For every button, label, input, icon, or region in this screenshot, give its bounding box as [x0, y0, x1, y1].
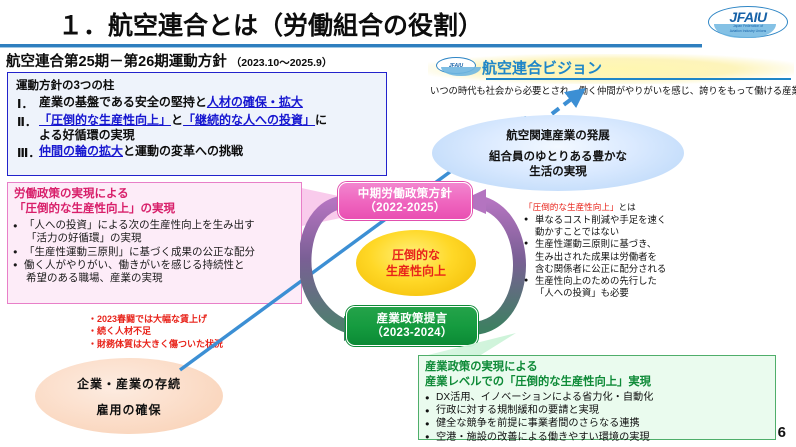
- industry-policy-heading-line2: 産業レベルでの「圧倒的な生産性向上」実現: [425, 375, 775, 390]
- list-item: DX活用、イノベーションによる省力化・自動化: [423, 391, 775, 404]
- left-red-notes: ・2023春闘では大幅な賃上げ ・続く人材不足 ・財務体質は大きく傷ついた状況: [88, 313, 223, 350]
- page-title: １．航空連合とは（労働組合の役割）: [58, 6, 483, 42]
- labor-policy-bullet-3: 働く人がやりがい、働きがいを感じる持続性と: [24, 259, 245, 271]
- orange-ellipse-line2: 雇用の確保: [96, 401, 161, 418]
- subtitle-main: 航空連合第25期－第26期運動方針: [6, 50, 227, 71]
- pillar-2-mid: と: [171, 113, 183, 127]
- title-divider-secondary: [0, 47, 702, 48]
- pillars-heading: 運動方針の3つの柱: [16, 77, 386, 93]
- definition-bullet-1: 単なるコスト削減や手足を速く: [535, 214, 666, 225]
- cycle-bottom-box[interactable]: 産業政策提言 （2023-2024）: [346, 306, 478, 346]
- definition-heading-key: 「圧倒的な生産性向上」: [524, 202, 619, 212]
- list-item: 単なるコスト削減や手足を速く 動かすことではない: [524, 214, 720, 238]
- definition-heading-rest: とは: [619, 202, 636, 212]
- industry-policy-heading-line1: 産業政策の実現による: [425, 360, 775, 375]
- industry-policy-bullet-list: DX活用、イノベーションによる省力化・自動化 行政に対する規制緩和の要請と実現 …: [423, 391, 775, 444]
- pillar-3-post: と運動の変革への挑戦: [123, 144, 243, 158]
- vision-logo-icon: JFAIU: [436, 57, 482, 77]
- pillar-item-2: Ⅱ． 「圧倒的な生産性向上」と「継続的な人への投資」に よる好循環の実現: [17, 113, 386, 143]
- blue-ellipse-line2: 組合員のゆとりある豊かな 生活の実現: [489, 150, 627, 180]
- blue-ellipse-line2b: 生活の実現: [529, 166, 587, 178]
- list-item: 働く人がやりがい、働きがいを感じる持続性と 希望のある職場、産業の実現: [12, 259, 301, 286]
- jfaiu-logo: JFAIU Japan Federation of Aviation Indus…: [704, 2, 792, 42]
- cycle-bottom-line2: （2023-2024）: [371, 326, 452, 340]
- list-item: 行政に対する規制緩和の要請と実現: [423, 404, 775, 417]
- productivity-cycle-diagram: 中期労働政策方針 （2022-2025） 圧倒的な 生産性向上 産業政策提言 （…: [300, 182, 550, 348]
- vision-title: 航空連合ビジョン: [482, 57, 602, 78]
- pillar-1-link[interactable]: 人材の確保・拡大: [207, 95, 303, 109]
- pillar-1-number: Ⅰ．: [17, 95, 39, 112]
- cycle-top-box[interactable]: 中期労働政策方針 （2022-2025）: [338, 182, 472, 220]
- labor-policy-bullet-1: 「人への投資」による次の生産性向上を生み出す: [24, 219, 255, 231]
- red-note-1: ・2023春闘では大幅な賃上げ: [88, 313, 223, 325]
- list-item: 健全な競争を前提に事業者間のさらなる連携: [423, 417, 775, 430]
- logo-subtext-2: Aviation Industry Unions: [730, 29, 767, 33]
- blue-ellipse-line2a: 組合員のゆとりある豊かな: [489, 151, 627, 163]
- red-note-2: ・続く人材不足: [88, 325, 223, 337]
- pillar-2-number: Ⅱ．: [17, 113, 39, 143]
- pillar-2-link-a[interactable]: 「圧倒的な生産性向上」: [39, 113, 171, 127]
- list-item: 「生産性運動三原則」に基づく成果の公正な配分: [12, 246, 301, 259]
- cycle-center-ellipse: 圧倒的な 生産性向上: [356, 230, 476, 296]
- pillar-2-post: に: [315, 113, 327, 127]
- pillar-2-link-b[interactable]: 「継続的な人への投資」: [183, 113, 315, 127]
- definition-bullet-3-cont: 「人への投資」も必要: [535, 287, 720, 299]
- vision-underline: [486, 78, 791, 80]
- company-survival-ellipse: 企業・産業の存続 雇用の確保: [35, 358, 223, 434]
- industry-policy-box: 産業政策の実現による 産業レベルでの「圧倒的な生産性向上」実現 DX活用、イノベ…: [418, 355, 776, 440]
- labor-policy-bullet-1-cont: 「活力の好循環」の実現: [24, 232, 301, 245]
- pillar-item-3: Ⅲ． 仲間の輪の拡大と運動の変革への挑戦: [17, 144, 386, 161]
- page-number: 6: [778, 424, 786, 441]
- pillar-1-text: 産業の基盤である安全の堅持と: [39, 95, 207, 109]
- definition-heading: 「圧倒的な生産性向上」とは: [524, 202, 720, 213]
- labor-policy-bullet-list: 「人への投資」による次の生産性向上を生み出す 「活力の好循環」の実現 「生産性運…: [12, 219, 301, 285]
- productivity-definition-note: 「圧倒的な生産性向上」とは 単なるコスト削減や手足を速く 動かすことではない 生…: [524, 202, 720, 299]
- subtitle-period: （2023.10〜2025.9）: [231, 55, 333, 70]
- cycle-bottom-line1: 産業政策提言: [377, 312, 448, 326]
- list-item: 生産性運動三原則に基づき、 生み出された成果は労働者を 含む関係者に公正に配分さ…: [524, 238, 720, 275]
- cycle-center-line2: 生産性向上: [386, 263, 446, 279]
- list-item: 生産性向上のための先行した 「人への投資」も必要: [524, 275, 720, 299]
- labor-policy-heading-line2: 「圧倒的な生産性向上」の実現: [14, 202, 301, 217]
- cycle-top-line2: （2022-2025）: [364, 201, 445, 215]
- orange-ellipse-line1: 企業・産業の存続: [77, 375, 181, 392]
- definition-bullet-2-cont: 生み出された成果は労働者を: [535, 251, 720, 263]
- labor-policy-bullet-3-cont: 希望のある職場、産業の実現: [24, 272, 301, 285]
- movement-policy-pillars-box: 運動方針の3つの柱 Ⅰ． 産業の基盤である安全の堅持と人材の確保・拡大 Ⅱ． 「…: [7, 72, 387, 176]
- labor-policy-heading-line1: 労働政策の実現による: [14, 187, 301, 202]
- subtitle: 航空連合第25期－第26期運動方針 （2023.10〜2025.9）: [6, 50, 332, 71]
- pillar-3-number: Ⅲ．: [17, 144, 39, 161]
- cycle-center-line1: 圧倒的な: [392, 247, 440, 263]
- labor-policy-bullet-2: 「生産性運動三原則」に基づく成果の公正な配分: [24, 246, 255, 258]
- vision-logo-swoosh-icon: [441, 67, 481, 76]
- definition-bullet-2-cont2: 含む関係者に公正に配分される: [535, 263, 720, 275]
- definition-bullet-2: 生産性運動三原則に基づき、: [535, 238, 656, 249]
- pillar-item-1: Ⅰ． 産業の基盤である安全の堅持と人材の確保・拡大: [17, 95, 386, 112]
- red-note-3: ・財務体質は大きく傷ついた状況: [88, 338, 223, 350]
- pillar-2-continuation: よる好循環の実現: [39, 128, 327, 143]
- pillar-3-link[interactable]: 仲間の輪の拡大: [39, 144, 123, 158]
- definition-bullet-list: 単なるコスト削減や手足を速く 動かすことではない 生産性運動三原則に基づき、 生…: [524, 214, 720, 299]
- list-item: 「人への投資」による次の生産性向上を生み出す 「活力の好循環」の実現: [12, 219, 301, 246]
- definition-bullet-1-cont: 動かすことではない: [535, 226, 720, 238]
- labor-policy-box: 労働政策の実現による 「圧倒的な生産性向上」の実現 「人への投資」による次の生産…: [7, 182, 302, 304]
- industry-development-ellipse: 航空関連産業の発展 組合員のゆとりある豊かな 生活の実現: [432, 115, 684, 191]
- cycle-top-line1: 中期労働政策方針: [358, 187, 452, 201]
- slide-canvas: １．航空連合とは（労働組合の役割） JFAIU Japan Federation…: [0, 0, 796, 447]
- blue-ellipse-line1: 航空関連産業の発展: [506, 127, 610, 143]
- list-item: 空港・施設の改善による働きやすい環境の実現: [423, 431, 775, 444]
- definition-bullet-3: 生産性向上のための先行した: [535, 275, 657, 286]
- logo-wordmark: JFAIU: [729, 11, 766, 24]
